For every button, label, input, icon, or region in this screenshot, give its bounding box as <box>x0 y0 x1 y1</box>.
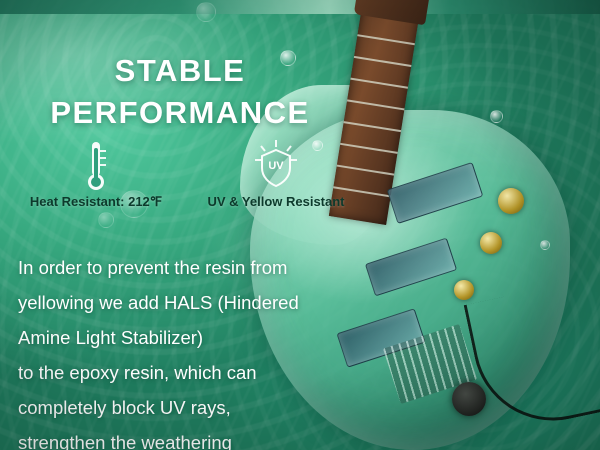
feature-heat-resistant: Heat Resistant: 212℉ <box>8 138 184 210</box>
bubble <box>540 240 550 250</box>
feature-row: Heat Resistant: 212℉ UV UV & Yellow Resi… <box>8 138 364 230</box>
guitar-control-knob <box>498 188 524 214</box>
body-line: In order to prevent the resin from <box>18 250 388 285</box>
guitar-control-knob <box>454 280 474 300</box>
body-copy: In order to prevent the resin from yello… <box>18 250 388 450</box>
headline-line-1: STABLE <box>115 53 246 88</box>
body-line: strengthen the weathering <box>18 425 388 450</box>
body-line: Amine Light Stabilizer) <box>18 320 388 355</box>
headline: STABLE PERFORMANCE <box>0 50 360 134</box>
svg-text:UV: UV <box>268 160 284 172</box>
thermometer-icon <box>8 138 184 194</box>
guitar-output-jack <box>452 382 486 416</box>
uv-shield-icon: UV <box>188 138 364 194</box>
feature-uv-label: UV & Yellow Resistant <box>188 194 364 209</box>
body-line: completely block UV rays, <box>18 390 388 425</box>
body-line: yellowing we add HALS (Hindered <box>18 285 388 320</box>
guitar-control-knob <box>480 232 502 254</box>
bubble <box>490 110 503 123</box>
headline-line-2: PERFORMANCE <box>0 92 360 134</box>
banner-image: STABLE PERFORMANCE Heat Resistant: 212℉ <box>0 0 600 450</box>
feature-heat-label: Heat Resistant: 212℉ <box>8 194 184 210</box>
feature-uv-resistant: UV UV & Yellow Resistant <box>188 138 364 209</box>
bubble <box>196 2 216 22</box>
body-line: to the epoxy resin, which can <box>18 355 388 390</box>
